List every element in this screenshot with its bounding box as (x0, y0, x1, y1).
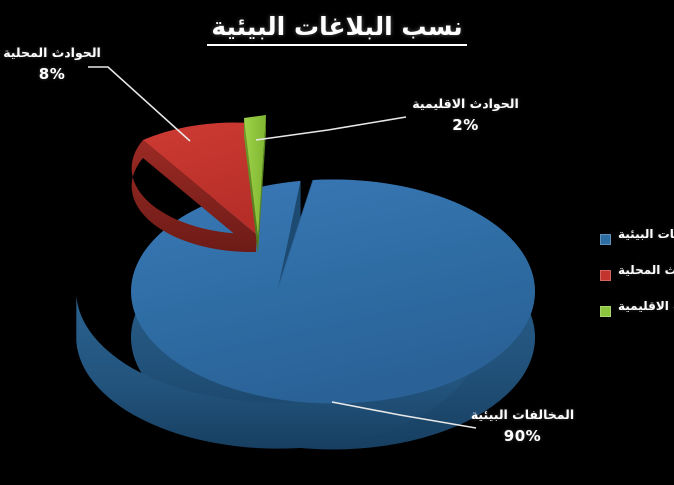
red-square-swatch (600, 270, 611, 281)
data-label-local-name: الحوادث المحلية (3, 45, 101, 60)
pie-slice-local (132, 123, 262, 252)
legend-item-local[interactable]: الحوادث المحلية (600, 258, 674, 294)
legend-item-violations[interactable]: المخالفات البيئية (600, 222, 674, 258)
data-label-violations-percent: 90% (430, 426, 615, 446)
data-label-violations-name: المخالفات البيئية (471, 407, 574, 422)
data-label-regional-name: الحوادث الاقليمية (412, 96, 518, 111)
data-label-violations: المخالفات البيئية 90% (430, 407, 615, 446)
data-label-local-percent: 8% (0, 64, 122, 84)
green-square-swatch (600, 306, 611, 317)
legend-label-regional: الحوادث الاقليمية (618, 299, 674, 313)
data-label-regional: الحوادث الاقليمية 2% (378, 96, 553, 135)
chart-legend: المخالفات البيئية الحوادث المحلية الحواد… (600, 222, 674, 330)
legend-label-violations: المخالفات البيئية (618, 227, 674, 241)
blue-square-swatch (600, 234, 611, 245)
data-label-local: الحوادث المحلية 8% (0, 45, 122, 84)
data-label-regional-percent: 2% (378, 115, 553, 135)
legend-label-local: الحوادث المحلية (618, 263, 674, 277)
chart-screenshot: نسب البلاغات البيئية (0, 0, 674, 485)
legend-item-regional[interactable]: الحوادث الاقليمية (600, 294, 674, 330)
